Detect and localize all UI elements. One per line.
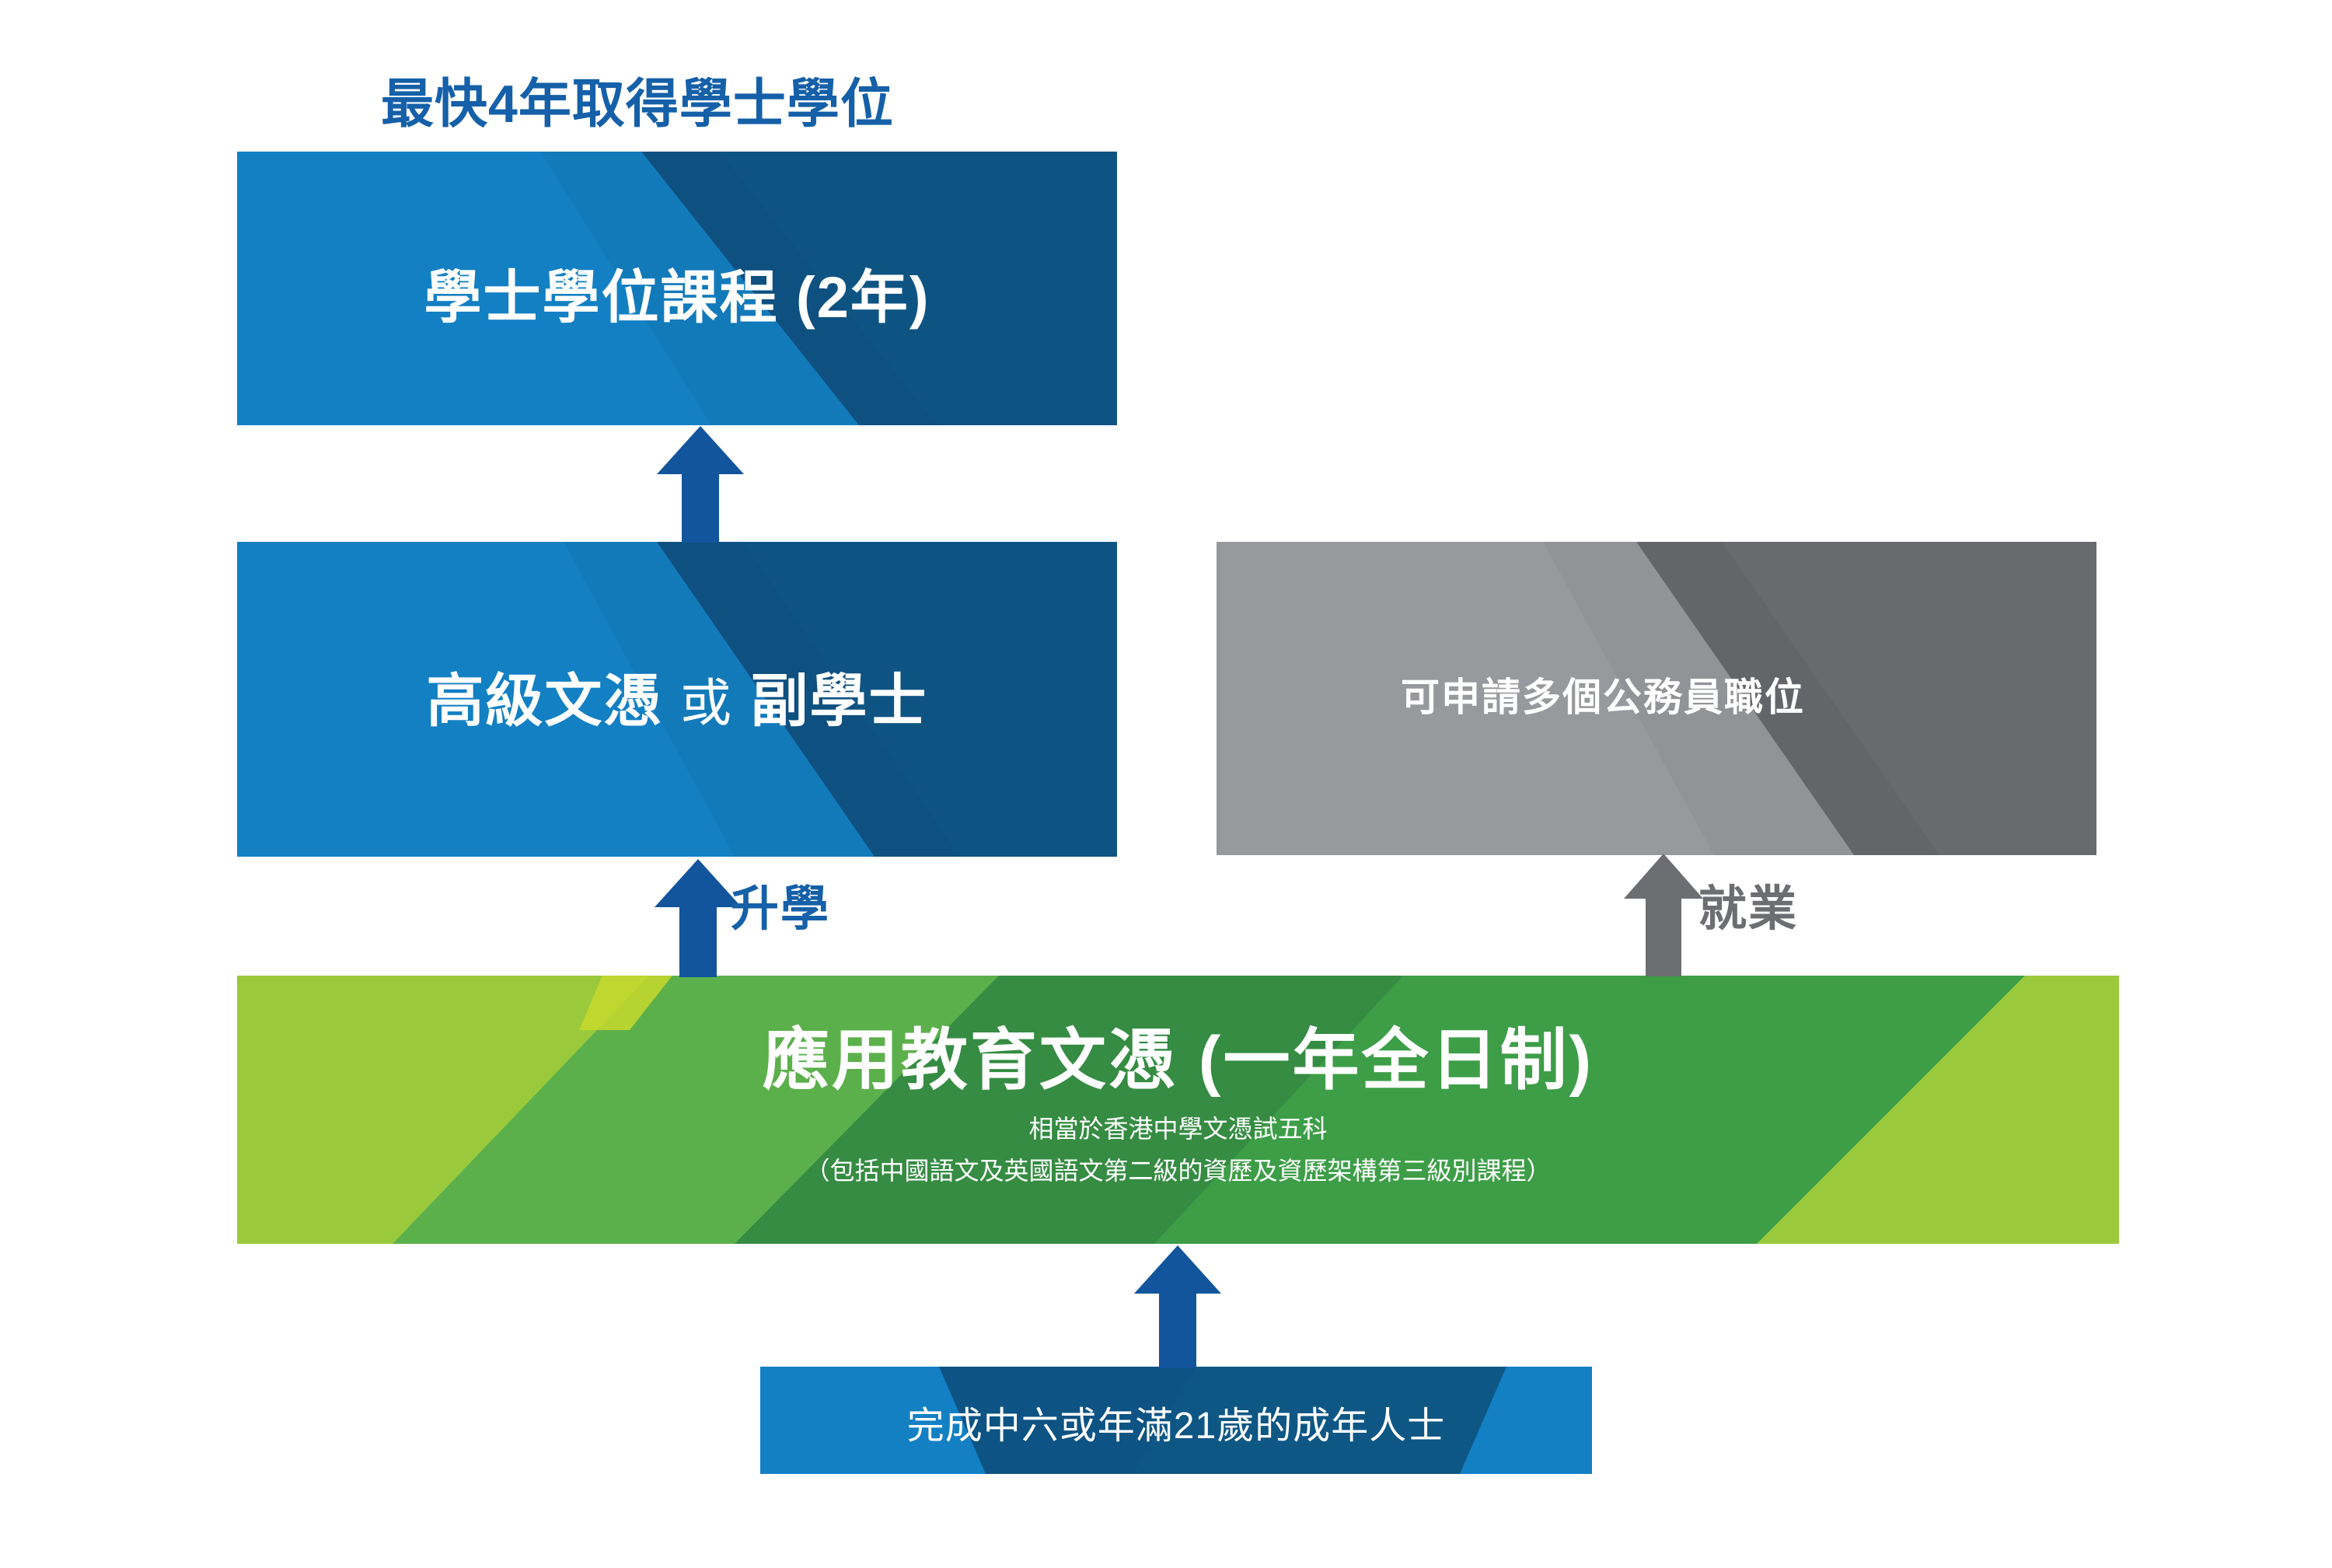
diploma-title: 應用教育文憑 (一年全日制)	[237, 1005, 2119, 1102]
page-title: 最快4年取得學士學位	[381, 61, 894, 138]
bachelor-label: 學士學位課程 (2年)	[237, 251, 1117, 334]
arrow-higher-diploma-to-bachelor	[654, 426, 747, 543]
node-applied-education-diploma: 應用教育文憑 (一年全日制) 相當於香港中學文憑試五科 （包括中國語文及英國語文…	[237, 976, 2119, 1244]
node-entry-requirement: 完成中六或年滿21歲的成年人士	[760, 1367, 1592, 1474]
node-higher-diploma: 高級文憑 或 副學士	[237, 542, 1117, 857]
arrow-entry-to-diploma	[1131, 1245, 1224, 1368]
entry-label: 完成中六或年滿21歲的成年人士	[760, 1395, 1592, 1449]
node-bachelor-degree: 學士學位課程 (2年)	[237, 152, 1117, 425]
higher-diploma-label-part2: 副學士	[751, 669, 928, 733]
arrow-label-employment: 就業	[1698, 869, 1798, 939]
diploma-subtitle-line2: （包括中國語文及英國語文第二級的資歷及資歷架構第三級別課程）	[237, 1151, 2119, 1187]
higher-diploma-label-or: 或	[680, 674, 733, 732]
arrow-diploma-to-civil-service	[1621, 854, 1706, 976]
pathway-diagram: 最快4年取得學士學位 學士學位課程 (2年) 高級文憑 或	[0, 0, 2332, 1568]
higher-diploma-label-part1: 高級文憑	[426, 669, 662, 733]
node-civil-service: 可申請多個公務員職位	[1217, 542, 2096, 855]
higher-diploma-label: 高級文憑 或 副學士	[237, 655, 1117, 738]
diploma-subtitle-line1: 相當於香港中學文憑試五科	[237, 1109, 2119, 1145]
arrow-label-further-study: 升學	[731, 869, 830, 939]
civil-service-label: 可申請多個公務員職位	[1217, 666, 1989, 722]
